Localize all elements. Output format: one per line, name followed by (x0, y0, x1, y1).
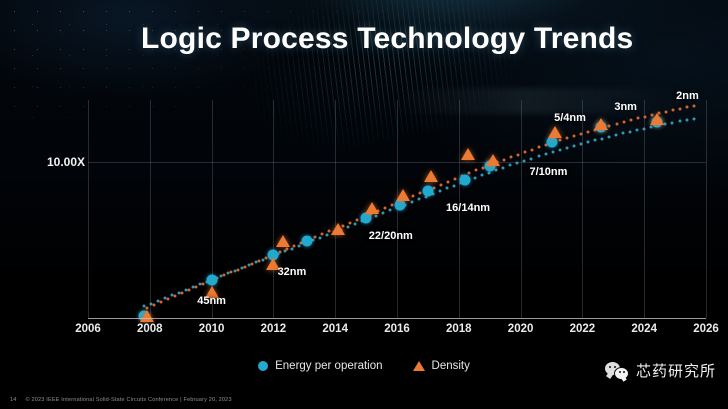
trendline-dot (285, 248, 288, 251)
node-annotation-label: 16/14nm (446, 202, 490, 214)
trendline-dot (445, 187, 448, 190)
data-point-density (486, 154, 500, 166)
trendline-dot (454, 177, 457, 180)
trendline-dot (347, 225, 350, 228)
legend-label: Energy per operation (275, 360, 382, 372)
node-annotation-label: 45nm (197, 295, 226, 307)
trendline-dot (382, 212, 385, 215)
data-point-density (650, 113, 664, 125)
trendline-dot (438, 190, 441, 193)
node-annotation-label: 3nm (614, 101, 637, 113)
trendline-dot (671, 109, 674, 112)
trendline-dot (417, 198, 420, 201)
data-point-density (424, 170, 438, 182)
gridline-vertical (521, 100, 522, 318)
trendline-dot (328, 230, 331, 233)
gridline-vertical (88, 100, 89, 318)
y-axis-tick-label: 10.00X (47, 155, 85, 169)
gridline-vertical (644, 100, 645, 318)
trendline-dot (572, 145, 575, 148)
trendline-dot (608, 135, 611, 138)
trendline-dot (538, 146, 541, 149)
legend-item[interactable]: Density (413, 360, 470, 372)
trendline-dot (229, 271, 232, 274)
gridline-vertical (335, 100, 336, 318)
triangle-marker-icon (461, 148, 475, 160)
x-axis-tick-label: 2024 (631, 323, 657, 335)
node-annotation-label: 5/4nm (554, 112, 586, 124)
trendline-dot (354, 223, 357, 226)
data-point-energy (459, 175, 470, 186)
trendline-dot (566, 137, 569, 140)
trendline-dot (531, 148, 534, 151)
trendline-dot (503, 158, 506, 161)
trendline-dot (579, 143, 582, 146)
trendline-dot (257, 259, 260, 262)
trendline-dot (292, 245, 295, 248)
circle-marker-icon (395, 200, 406, 211)
trendline-dot (166, 297, 169, 300)
trendline-dot (600, 137, 603, 140)
x-axis-tick-label: 2010 (199, 323, 225, 335)
data-point-density (548, 126, 562, 138)
trendline-dot (685, 106, 688, 109)
triangle-marker-icon (331, 223, 345, 235)
node-annotation-label: 32nm (278, 266, 307, 278)
trendline-dot (558, 149, 561, 152)
trendline-dot (318, 236, 321, 239)
triangle-marker-icon (650, 113, 664, 125)
trendline-dot (325, 233, 328, 236)
trendline-dot (573, 135, 576, 138)
triangle-marker-icon (594, 118, 608, 130)
trendline-dot (440, 183, 443, 186)
trendline-dot (517, 153, 520, 156)
trendline-dot (412, 195, 415, 198)
triangle-marker-icon (140, 310, 154, 322)
watermark: 芯药研究所 (605, 360, 716, 381)
trendline-dot (537, 155, 540, 158)
trendline-dot (236, 268, 239, 271)
trendline-dot (356, 218, 359, 221)
trendline-dot (643, 127, 646, 130)
trendline-dot (530, 157, 533, 160)
wechat-icon (605, 362, 629, 380)
data-point-energy (206, 274, 217, 285)
trendline-dot (664, 123, 667, 126)
trendline-dot (643, 115, 646, 118)
data-point-energy (546, 137, 557, 148)
trendline-dot (474, 176, 477, 179)
x-axis-tick-label: 2012 (261, 323, 287, 335)
trendline-dot (389, 209, 392, 212)
circle-marker-icon (206, 274, 217, 285)
trendline-dot (173, 294, 176, 297)
node-annotation-label: 2nm (676, 90, 699, 102)
trendline-dot (180, 291, 183, 294)
trendline-dot (551, 151, 554, 154)
trendline-dot (629, 130, 632, 133)
watermark-text: 芯药研究所 (636, 360, 716, 381)
trendline-dot (375, 214, 378, 217)
data-point-density (140, 310, 154, 322)
trendline-dot (194, 286, 197, 289)
legend-circle-icon (258, 361, 268, 371)
footer-text: © 2023 IEEE International Solid-State Ci… (26, 397, 232, 403)
trendline-dot (222, 274, 225, 277)
x-axis-tick-label: 2020 (508, 323, 534, 335)
triangle-marker-icon (486, 154, 500, 166)
trendline-dot (622, 132, 625, 135)
trendline-dot (502, 166, 505, 169)
x-axis-tick-label: 2008 (137, 323, 163, 335)
triangle-marker-icon (365, 202, 379, 214)
trendline-dot (509, 164, 512, 167)
legend-item[interactable]: Energy per operation (258, 360, 382, 372)
gridline-vertical (706, 100, 707, 318)
circle-marker-icon (302, 235, 313, 246)
node-annotation-label: 7/10nm (529, 166, 567, 178)
triangle-marker-icon (424, 170, 438, 182)
gridline-vertical (273, 100, 274, 318)
trendline-dot (636, 129, 639, 132)
trendline-dot (384, 207, 387, 210)
trendline-dot (692, 104, 695, 107)
trendline-dot (516, 162, 519, 165)
data-point-density (594, 118, 608, 130)
circle-marker-icon (459, 175, 470, 186)
trendline-dot (152, 303, 155, 306)
trendline-dot (622, 121, 625, 124)
trendline-dot (349, 221, 352, 224)
trendline-dot (410, 201, 413, 204)
gridline-vertical (150, 100, 151, 318)
trendline-dot (692, 117, 695, 120)
trendline-dot (580, 132, 583, 135)
trendline-dot (321, 233, 324, 236)
trendline-dot (447, 180, 450, 183)
data-point-density (276, 235, 290, 247)
legend-label: Density (432, 360, 470, 372)
trendline-dot (629, 119, 632, 122)
data-point-density (365, 202, 379, 214)
data-point-density (461, 148, 475, 160)
triangle-marker-icon (548, 126, 562, 138)
x-axis-tick-label: 2018 (446, 323, 472, 335)
trendline-dot (544, 153, 547, 156)
trendline-dot (664, 110, 667, 113)
trendline-dot (671, 121, 674, 124)
trendline-dot (524, 151, 527, 154)
trendline-dot (481, 174, 484, 177)
slide-footer: 14 © 2023 IEEE International Solid-State… (10, 397, 232, 403)
trendline-dot (201, 283, 204, 286)
node-annotation-label: 22/20nm (369, 230, 413, 242)
trendline-dot (586, 141, 589, 144)
x-axis-tick-label: 2022 (570, 323, 596, 335)
trendline-dot (290, 247, 293, 250)
trendline-dot (145, 306, 148, 309)
trendline-dot (523, 159, 526, 162)
page-number: 14 (10, 397, 17, 403)
triangle-marker-icon (276, 235, 290, 247)
trendline-dot (587, 130, 590, 133)
trendline-dot (243, 265, 246, 268)
circle-marker-icon (422, 186, 433, 197)
trendline-dot (297, 244, 300, 247)
trendline-dot (559, 139, 562, 142)
x-axis-tick-label: 2014 (322, 323, 348, 335)
data-point-energy (422, 186, 433, 197)
trendline-dot (593, 139, 596, 142)
x-axis-tick-label: 2016 (384, 323, 410, 335)
trendline-dot (419, 192, 422, 195)
trendline-dot (565, 147, 568, 150)
legend-triangle-icon (413, 361, 425, 371)
x-axis-tick-label: 2006 (75, 323, 101, 335)
trendline-dot (391, 204, 394, 207)
x-axis-tick-label: 2026 (693, 323, 719, 335)
chart-scatter-logic-process-trends: 10.00X 200620082010201220142016201820202… (0, 0, 728, 409)
data-point-energy (302, 235, 313, 246)
trendline-dot (685, 119, 688, 122)
data-point-energy (395, 200, 406, 211)
trendline-dot (678, 120, 681, 123)
trendline-dot (452, 184, 455, 187)
trendline-dot (475, 169, 478, 172)
data-point-density (396, 189, 410, 201)
trendline-dot (615, 122, 618, 125)
trendline-dot (187, 288, 190, 291)
triangle-marker-icon (396, 189, 410, 201)
trendline-dot (615, 134, 618, 137)
trendline-dot (636, 117, 639, 120)
circle-marker-icon (546, 137, 557, 148)
data-point-density (331, 223, 345, 235)
trendline-dot (678, 107, 681, 110)
plot-area (88, 100, 706, 318)
x-axis-line (88, 318, 706, 319)
trendline-dot (313, 236, 316, 239)
gridline-horizontal (88, 162, 706, 163)
trendline-dot (510, 156, 513, 159)
trendline-dot (608, 124, 611, 127)
trendline-dot (159, 300, 162, 303)
trendline-dot (250, 262, 253, 265)
